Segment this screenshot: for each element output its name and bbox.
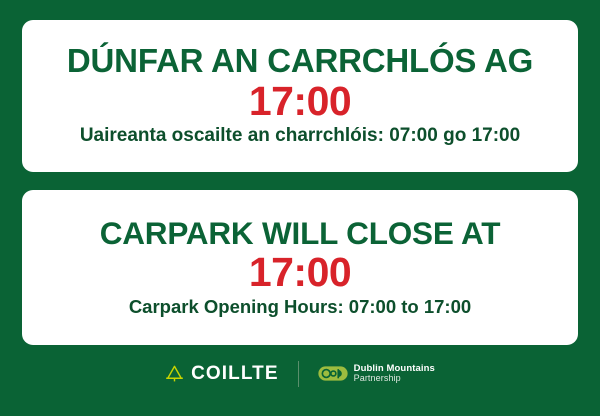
- notice-card-irish: DÚNFAR AN CARRCHLÓS AG 17:00 Uaireanta o…: [22, 20, 578, 172]
- coillte-tree-triangle-icon: [165, 364, 184, 383]
- dmp-wordmark-line1: Dublin Mountains: [354, 364, 435, 374]
- carpark-closing-sign: DÚNFAR AN CARRCHLÓS AG 17:00 Uaireanta o…: [0, 0, 600, 416]
- dublin-mountains-partnership-logo: Dublin Mountains Partnership: [299, 364, 435, 384]
- opening-hours-irish: Uaireanta oscailte an charrchlóis: 07:00…: [80, 125, 520, 147]
- dmp-wordmark: Dublin Mountains Partnership: [354, 364, 435, 384]
- closing-time-english: 17:00: [249, 251, 351, 294]
- notice-headline-irish: DÚNFAR AN CARRCHLÓS AG: [67, 43, 533, 79]
- notice-headline-english: CARPARK WILL CLOSE AT: [100, 216, 501, 250]
- dmp-wordmark-line2: Partnership: [354, 374, 435, 383]
- coillte-wordmark: COILLTE: [191, 364, 279, 383]
- closing-time-irish: 17:00: [249, 80, 351, 123]
- notice-card-english: CARPARK WILL CLOSE AT 17:00 Carpark Open…: [22, 190, 578, 345]
- opening-hours-english: Carpark Opening Hours: 07:00 to 17:00: [129, 296, 471, 317]
- coillte-logo: COILLTE: [165, 364, 298, 383]
- dmp-circles-monogram-icon: [318, 366, 348, 381]
- footer-brand-bar: COILLTE Dublin Mountains Partnership: [22, 345, 578, 416]
